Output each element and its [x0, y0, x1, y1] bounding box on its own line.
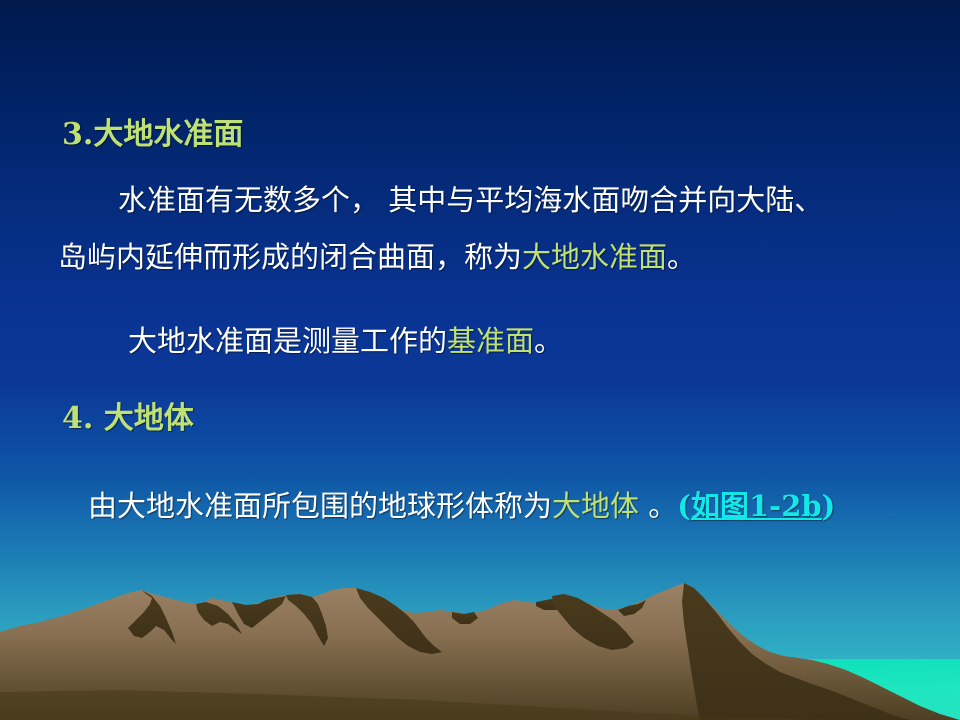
paragraph-3-highlight-term: 大地体 [552, 489, 639, 523]
heading-4-title: 大地体 [93, 401, 193, 436]
paragraph-3-prefix: 由大地水准面所包围的地球形体称为 [88, 489, 552, 523]
paragraph-1-line-a-text: 水准面有无数多个， 其中与平均海水面吻合并向大陆、 [118, 183, 823, 217]
paragraph-1-line-b: 岛屿内延伸而形成的闭合曲面，称为大地水准面。 [58, 243, 696, 272]
paragraph-3-middle: 。 [639, 489, 677, 523]
paragraph-2-highlight-term: 基准面 [447, 324, 534, 358]
paragraph-1-line-a: 水准面有无数多个， 其中与平均海水面吻合并向大陆、 [118, 186, 823, 215]
heading-3-number: 3. [62, 117, 93, 152]
figure-1-2b-link[interactable]: 如图1-2b [691, 489, 822, 523]
heading-4-number: 4. [62, 401, 93, 436]
paragraph-3-link-open-paren: ( [677, 489, 691, 523]
paragraph-1-line-b-suffix: 。 [667, 240, 696, 274]
heading-3-title: 大地水准面 [93, 117, 243, 152]
slide-text-content: 3.大地水准面 水准面有无数多个， 其中与平均海水面吻合并向大陆、 岛屿内延伸而… [0, 0, 960, 660]
paragraph-1-highlight-term: 大地水准面 [522, 240, 667, 274]
paragraph-3: 由大地水准面所包围的地球形体称为大地体 。(如图1-2b) [88, 492, 835, 521]
heading-4: 4. 大地体 [62, 404, 194, 434]
paragraph-3-link-close-paren: ) [822, 489, 836, 523]
paragraph-1-line-b-prefix: 岛屿内延伸而形成的闭合曲面，称为 [58, 240, 522, 274]
paragraph-2: 大地水准面是测量工作的基准面。 [128, 327, 563, 356]
heading-3: 3.大地水准面 [62, 120, 243, 150]
paragraph-2-suffix: 。 [534, 324, 563, 358]
paragraph-2-prefix: 大地水准面是测量工作的 [128, 324, 447, 358]
slide-canvas: 3.大地水准面 水准面有无数多个， 其中与平均海水面吻合并向大陆、 岛屿内延伸而… [0, 0, 960, 720]
